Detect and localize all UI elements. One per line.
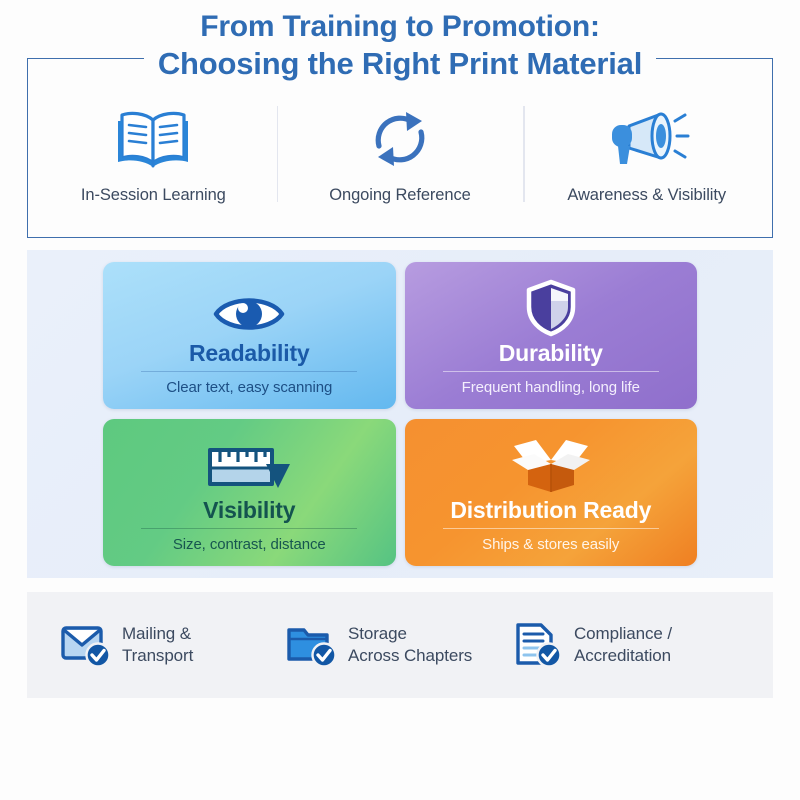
title-line-1: From Training to Promotion: (186, 10, 614, 45)
infographic-poster: From Training to Promotion: Choosing the… (0, 0, 800, 800)
card-subtitle: Frequent handling, long life (462, 379, 640, 396)
footer-item-compliance-accreditation[interactable]: Compliance / Accreditation (513, 620, 739, 670)
open-book-icon (114, 106, 192, 172)
card-readability[interactable]: Readability Clear text, easy scanning (103, 262, 396, 409)
shield-icon (524, 275, 578, 337)
footer-item-line2: Across Chapters (348, 645, 472, 667)
header-item-row: In-Session Learning Ongoing Reference (30, 104, 770, 224)
header-item-in-session-learning[interactable]: In-Session Learning (30, 104, 277, 205)
eye-icon (212, 275, 286, 337)
envelope-check-icon (61, 620, 111, 670)
open-box-icon (506, 432, 596, 494)
footer-item-line1: Storage (348, 623, 472, 645)
card-divider (443, 371, 659, 372)
footer-item-mailing-transport[interactable]: Mailing & Transport (61, 620, 287, 670)
megaphone-icon (603, 106, 691, 172)
header-item-awareness-visibility[interactable]: Awareness & Visibility (523, 104, 770, 205)
card-distribution[interactable]: Distribution Ready Ships & stores easily (405, 419, 698, 566)
card-title: Distribution Ready (450, 498, 651, 528)
card-durability[interactable]: Durability Frequent handling, long life (405, 262, 698, 409)
page-title: From Training to Promotion: Choosing the… (0, 10, 800, 82)
card-divider (443, 528, 659, 529)
card-subtitle: Clear text, easy scanning (166, 379, 332, 396)
header-item-label: Awareness & Visibility (567, 186, 726, 205)
card-subtitle: Ships & stores easily (482, 536, 619, 553)
ruler-icon (206, 432, 292, 494)
footer-item-label: Storage Across Chapters (348, 623, 472, 667)
card-title: Visibility (203, 498, 295, 528)
footer-item-line2: Accreditation (574, 645, 672, 667)
footer-strip: Mailing & Transport Storage Across Chapt… (27, 592, 773, 698)
footer-item-storage-across-chapters[interactable]: Storage Across Chapters (287, 620, 513, 670)
card-divider (141, 371, 357, 372)
footer-item-line1: Mailing & (122, 623, 193, 645)
footer-item-line2: Transport (122, 645, 193, 667)
card-subtitle: Size, contrast, distance (173, 536, 326, 553)
card-title: Durability (499, 341, 603, 371)
card-divider (141, 528, 357, 529)
document-check-icon (513, 620, 563, 670)
refresh-cycle-icon (366, 106, 434, 172)
card-visibility[interactable]: Visibility Size, contrast, distance (103, 419, 396, 566)
header-item-label: Ongoing Reference (329, 186, 470, 205)
feature-card-panel: Readability Clear text, easy scanning Du… (27, 250, 773, 578)
title-line-2: Choosing the Right Print Material (144, 46, 656, 82)
card-title: Readability (189, 341, 310, 371)
footer-item-label: Mailing & Transport (122, 623, 193, 667)
footer-item-line1: Compliance / (574, 623, 672, 645)
folder-check-icon (287, 620, 337, 670)
header-item-label: In-Session Learning (81, 186, 226, 205)
header-item-ongoing-reference[interactable]: Ongoing Reference (277, 104, 524, 205)
footer-item-label: Compliance / Accreditation (574, 623, 672, 667)
